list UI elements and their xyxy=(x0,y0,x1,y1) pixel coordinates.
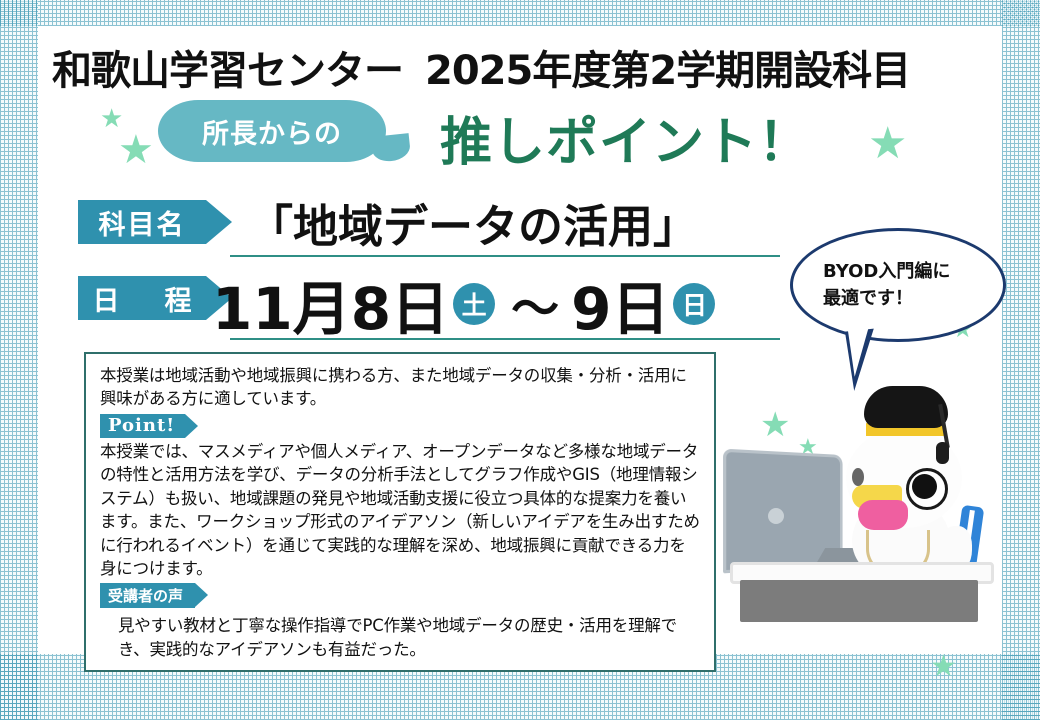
byod-speech-bubble: BYOD入門編に 最適です！ xyxy=(790,228,1006,342)
star-icon: ★ xyxy=(118,130,154,170)
poster-root: ★ ★ ★ ★ ★ ★ ★ 和歌山学習センター2025年度第2学期開設科目 所長… xyxy=(0,0,1040,720)
description-box: 本授業は地域活動や地域振興に携わる方、また地域データの収集・分析・活用に興味があ… xyxy=(84,352,716,672)
mascot-beak-lower xyxy=(858,500,908,530)
student-voice-text: 見やすい教材と丁寧な操作指導でPC作業や地域データの歴史・活用を理解でき、実践的… xyxy=(100,614,700,661)
term-label: 2025年度第2学期開設科目 xyxy=(425,48,910,94)
desk-front xyxy=(740,580,978,622)
point-tag: Point! xyxy=(100,414,185,438)
date-end-day: 9日 xyxy=(571,262,669,346)
director-blob-label: 所長からの xyxy=(202,112,342,151)
grid-border-left xyxy=(0,0,38,720)
grid-border-top xyxy=(0,0,1040,26)
date-label-pennant: 日 程 xyxy=(78,276,206,320)
date-connector: ～ xyxy=(511,269,559,339)
mascot-graduation-cap-icon xyxy=(864,386,948,428)
subject-underline xyxy=(230,255,780,257)
star-icon: ★ xyxy=(868,122,907,166)
headline: 推しポイント！ xyxy=(440,100,811,175)
date-underline xyxy=(230,338,780,340)
date-day-badge-start: 土 xyxy=(453,283,495,325)
subject-value: 「地域データの活用」 xyxy=(248,190,698,255)
date-value: 11月8日 土 ～ 9日 日 xyxy=(212,262,719,346)
page-title: 和歌山学習センター2025年度第2学期開設科目 xyxy=(52,38,992,96)
intro-text: 本授業は地域活動や地域振興に携わる方、また地域データの収集・分析・活用に興味があ… xyxy=(100,364,700,411)
subject-label: 科目名 xyxy=(99,203,186,242)
date-month-day: 11月8日 xyxy=(212,262,449,346)
subject-label-pennant: 科目名 xyxy=(78,200,206,244)
date-day-badge-end: 日 xyxy=(673,283,715,325)
mascot-far-eye xyxy=(852,468,864,486)
point-body-text: 本授業では、マスメディアや個人メディア、オープンデータなど多様な地域データの特性… xyxy=(100,440,700,581)
mascot-cap-tassel-end xyxy=(936,442,949,464)
mascot-pupil xyxy=(912,474,937,499)
byod-bubble-line-1: BYOD入門編に xyxy=(823,258,973,285)
byod-bubble-line-2: 最適です！ xyxy=(823,285,973,312)
date-label: 日 程 xyxy=(84,279,201,318)
student-voice-tag: 受講者の声 xyxy=(100,583,195,608)
center-name: 和歌山学習センター xyxy=(52,48,403,94)
laptop-logo-icon xyxy=(768,508,784,524)
mascot-scene xyxy=(700,380,1030,670)
director-blob: 所長からの xyxy=(158,100,386,162)
